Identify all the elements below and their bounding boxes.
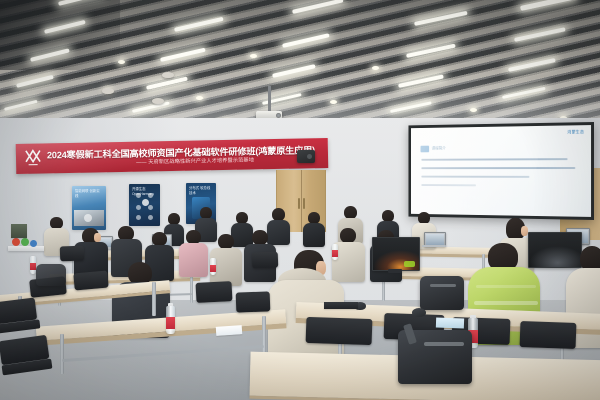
head (340, 228, 356, 243)
event-banner: 2024寒假新工科全国高校师资国产化基础软件研修班(鸿蒙原生应用) —— 天府新… (16, 138, 329, 174)
door-split (301, 170, 302, 232)
door-handle-right[interactable] (303, 198, 305, 209)
speaker-cone-icon (307, 154, 312, 159)
ceiling (0, 0, 600, 132)
shelf-card (11, 224, 27, 238)
face (94, 233, 101, 242)
bottle-label (332, 250, 338, 257)
slide-logo-text: 鸿蒙生态 (567, 129, 584, 135)
torso (267, 220, 290, 245)
laptop-base (422, 245, 446, 247)
chair[interactable] (73, 271, 108, 291)
ceiling-downlight (372, 66, 379, 70)
chair[interactable] (60, 246, 85, 262)
ceiling-sensor (162, 72, 174, 78)
bottle-label (166, 317, 175, 329)
bag-on-left-desk[interactable] (36, 264, 66, 286)
ceiling-downlight (250, 54, 257, 58)
desk-leg (190, 277, 193, 303)
monitor-logo-glow (404, 261, 415, 267)
head (152, 232, 167, 246)
water-bottle[interactable] (210, 258, 216, 275)
paper-sheet[interactable] (436, 318, 464, 329)
classroom-photo: 2024寒假新工科全国高校师资国产化基础软件研修班(鸿蒙原生应用) —— 天府新… (0, 0, 600, 400)
wall-shelf (8, 246, 44, 251)
chair[interactable] (196, 281, 233, 303)
desktop-monitor[interactable] (372, 237, 420, 271)
poster-middle-network: 开源生态 OpenHarmony (129, 184, 160, 226)
desk-leg (262, 316, 266, 356)
bag-strap (430, 284, 456, 287)
computer-mouse[interactable] (412, 308, 426, 317)
shelf-item-blue (30, 240, 37, 247)
chair[interactable] (236, 291, 271, 312)
torso (179, 243, 208, 277)
x-mark-logo (23, 148, 43, 169)
laptop-screen (426, 234, 444, 245)
torso (303, 223, 325, 247)
ceiling-downlight (118, 60, 125, 64)
projection-screen-surface: 鸿蒙生态 课程简介 (411, 125, 591, 217)
ceiling-sensor (102, 88, 114, 94)
water-bottle[interactable] (332, 244, 338, 260)
ceiling-sensor (152, 98, 164, 104)
poster-graphic (84, 214, 92, 222)
shelf-item-red (12, 238, 20, 246)
poster-left-title: 智能网联 创新实践 (75, 189, 103, 199)
keyboard[interactable] (324, 302, 358, 309)
projection-screen: 鸿蒙生态 课程简介 (408, 122, 594, 220)
chair[interactable] (520, 321, 577, 349)
bottle-label (210, 265, 216, 272)
desktop-monitor[interactable] (528, 232, 582, 268)
ceiling-downlight (470, 108, 477, 112)
door-handle-left[interactable] (298, 198, 300, 209)
projector-mount-pole (268, 86, 271, 112)
backpack-center[interactable] (420, 276, 464, 310)
ceiling-downlight (330, 100, 337, 104)
desk-leg (60, 334, 64, 374)
desk-leg (152, 282, 156, 316)
paper-sheet[interactable] (216, 325, 243, 336)
wall-speaker (297, 150, 315, 163)
water-bottle[interactable] (166, 306, 175, 334)
monitor-stand (388, 269, 402, 273)
desk-edge (249, 396, 600, 400)
chair[interactable] (252, 252, 279, 269)
head (186, 230, 201, 244)
bag-strap (424, 342, 464, 346)
backpack-foreground-right[interactable] (398, 330, 472, 384)
monitor-glow (529, 246, 581, 267)
ceiling-dark-corner (0, 0, 120, 70)
head (218, 234, 234, 249)
shelf-item-green (21, 238, 29, 246)
head (252, 230, 268, 245)
face (521, 226, 528, 236)
chair[interactable] (306, 317, 373, 345)
ceiling-downlight (196, 96, 203, 100)
screen-glare (411, 125, 544, 217)
poster-left-road: 智能网联 创新实践 (72, 186, 106, 230)
poster-right-title: 分布式 软总线技术 (189, 186, 213, 196)
